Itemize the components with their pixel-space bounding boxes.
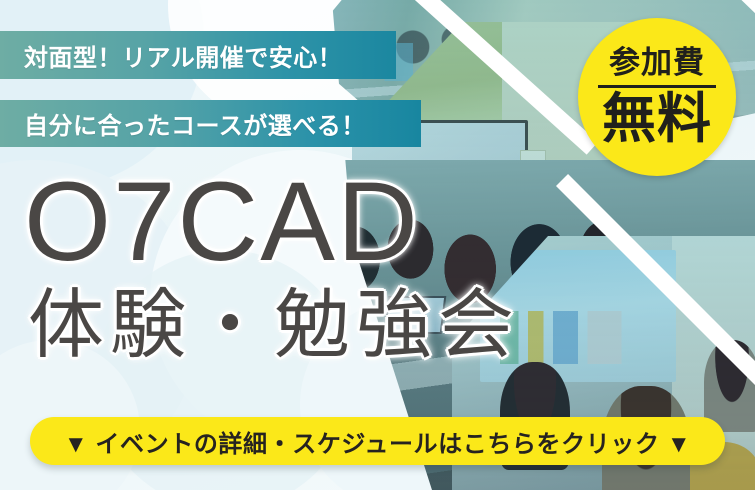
- cta-button-label: ▼ イベントの詳細・スケジュールはこちらをクリック ▼: [64, 424, 691, 459]
- price-badge-divider: [598, 85, 716, 88]
- page-subtitle: 体験・勉強会: [28, 288, 520, 364]
- tagline-in-person: 対面型！リアル開催で安心！: [0, 31, 396, 79]
- cta-button[interactable]: ▼ イベントの詳細・スケジュールはこちらをクリック ▼: [30, 417, 725, 465]
- price-badge-label: 参加費: [609, 47, 705, 80]
- price-badge-value: 無料: [602, 92, 712, 147]
- page-title: O7CAD: [24, 166, 420, 278]
- price-badge: 参加費 無料: [578, 18, 736, 176]
- tagline-course-choice: 自分に合ったコースが選べる！: [0, 100, 421, 147]
- tagline-text: 自分に合ったコースが選べる！: [24, 106, 366, 141]
- tagline-text: 対面型！リアル開催で安心！: [24, 38, 342, 73]
- event-banner: 対面型！リアル開催で安心！ 自分に合ったコースが選べる！ O7CAD 体験・勉強…: [0, 0, 755, 490]
